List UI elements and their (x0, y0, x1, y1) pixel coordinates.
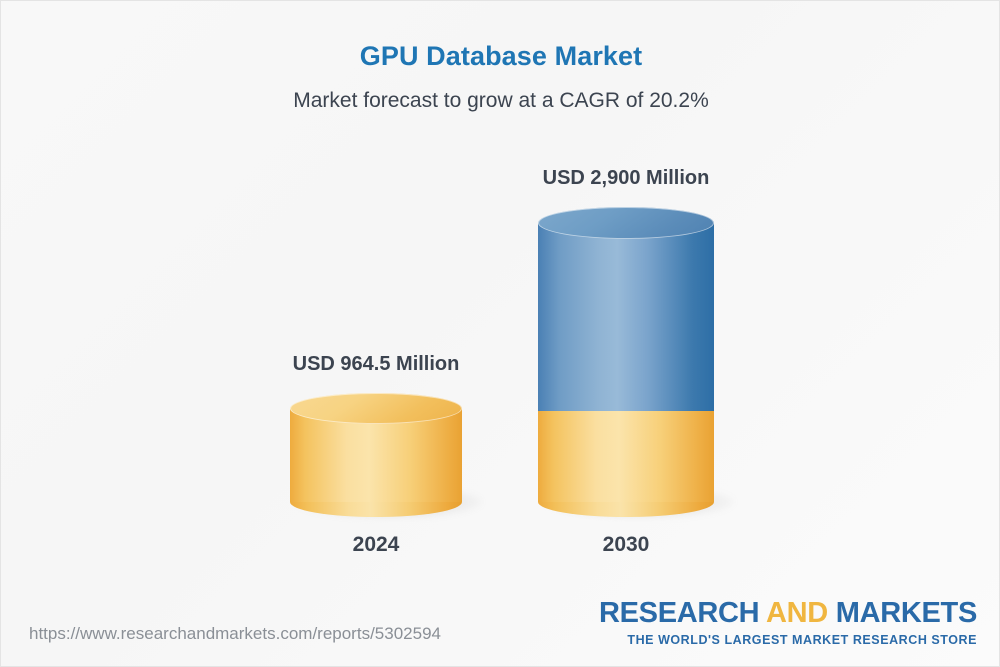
cylinder-segment-base-2030 (538, 411, 714, 502)
logo-wordmark: RESEARCH AND MARKETS (599, 599, 977, 628)
cylinder-segment-growth-2030 (538, 223, 714, 411)
cylinder-2030 (538, 207, 714, 517)
chart-plot-area: USD 964.5 Million 2024 USD 2,900 Million (1, 1, 1000, 601)
bar-group-2030: USD 2,900 Million 2030 (1, 1, 1000, 601)
logo-word-markets: MARKETS (828, 597, 977, 629)
logo-word-research: RESEARCH (599, 597, 766, 629)
value-label-2030: USD 2,900 Million (456, 167, 796, 190)
research-and-markets-logo[interactable]: RESEARCH AND MARKETS THE WORLD'S LARGEST… (599, 599, 977, 647)
cylinder-body-2030 (538, 223, 714, 502)
logo-word-and: AND (766, 597, 828, 629)
logo-tagline: THE WORLD'S LARGEST MARKET RESEARCH STOR… (599, 634, 977, 647)
chart-canvas: GPU Database Market Market forecast to g… (0, 0, 1000, 667)
source-url[interactable]: https://www.researchandmarkets.com/repor… (29, 624, 441, 644)
cylinder-top-2030 (538, 207, 714, 239)
category-label-2030: 2030 (526, 533, 726, 557)
